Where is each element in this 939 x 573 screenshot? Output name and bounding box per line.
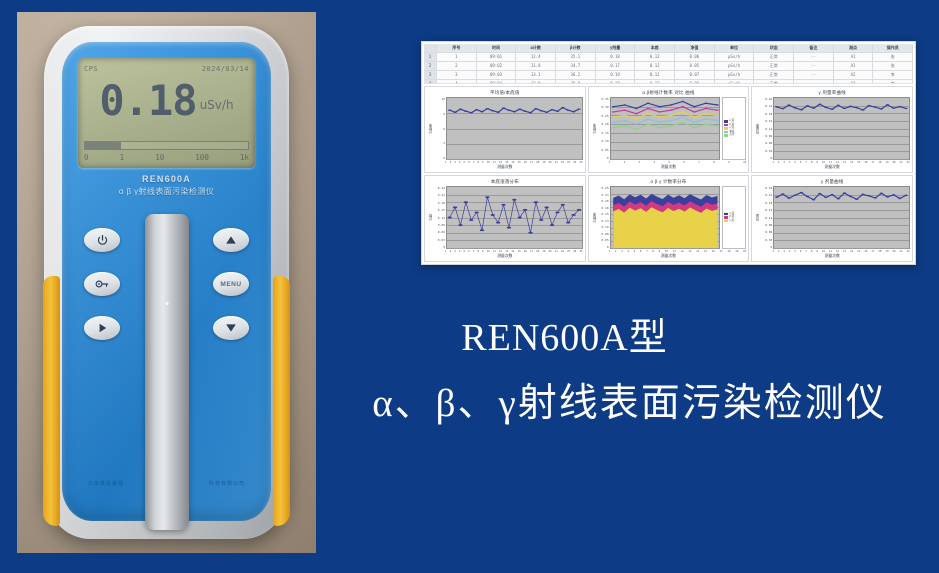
data-point: [812, 107, 815, 108]
table-cell: 正常: [754, 80, 794, 84]
data-point: [669, 120, 672, 121]
data-point: [681, 116, 684, 117]
menu-button[interactable]: MENU: [213, 272, 249, 296]
data-point: [782, 193, 785, 194]
y-tick-label: 0.18: [760, 201, 772, 205]
data-point: [681, 111, 684, 112]
y-tick-label: 0.25: [597, 186, 609, 190]
data-point: [704, 123, 707, 124]
chart-y-ticks: 0.240.210.180.150.120.090.060.030: [760, 97, 773, 160]
y-tick-label: 0.10: [597, 139, 609, 143]
lcd-status-right: 2024/03/14: [202, 65, 249, 73]
data-point: [704, 118, 707, 119]
legend-color-swatch: [724, 127, 728, 130]
lcd-scale-tick: 1k: [240, 153, 249, 165]
column-header: 序号: [437, 44, 477, 52]
data-point: [788, 104, 791, 105]
y-tick-label: 0.10: [597, 225, 609, 229]
chart-body: 剂量0.240.210.180.150.120.090.060.030: [752, 186, 912, 250]
chart-body: 计数0.240.210.180.150.120.090.060.030: [425, 186, 585, 250]
data-point: [612, 111, 615, 112]
table-cell: 0.12: [635, 62, 675, 70]
y-tick-label: 12: [433, 97, 445, 101]
chart-plot-area: [446, 97, 583, 160]
chart-grid: 平均值/本底值计数率129630123456789101112131415161…: [424, 84, 913, 262]
table-cell: --: [794, 80, 834, 84]
data-point: [831, 194, 834, 195]
gridline: [447, 248, 582, 249]
spreadsheet-row: 2209:0211.834.70.170.120.05μSv/h正常--A1张: [424, 62, 913, 71]
chart-x-axis-label: 测量次数: [425, 253, 585, 261]
device-photo: CPS 2024/03/14 0.18 uSv/h 01101001k REN6…: [17, 12, 316, 553]
chart-y-axis-label: 剂量: [753, 186, 760, 249]
column-header: 备注: [794, 44, 834, 52]
y-tick-label: 0.35: [597, 97, 609, 101]
gridline: [774, 248, 909, 249]
data-point: [775, 106, 778, 107]
row-header: 3: [424, 71, 437, 79]
line-series: [613, 112, 717, 119]
chart-plot-area: [610, 97, 721, 160]
line-series: [613, 117, 717, 124]
chart-y-ticks: 129630: [433, 97, 446, 160]
table-cell: 13.1: [516, 71, 556, 79]
chart-series-layer: [774, 187, 909, 248]
spreadsheet-header-row: 序号时间α计数β计数γ剂量本底净值单位状态备注测点操作员: [424, 44, 913, 53]
legend-color-swatch: [724, 124, 728, 127]
data-point: [704, 102, 707, 103]
data-point: [470, 112, 473, 113]
data-point: [646, 113, 649, 114]
y-tick-label: 0.15: [760, 119, 772, 123]
data-point: [646, 102, 649, 103]
data-point: [800, 192, 803, 193]
table-cell: 0.12: [635, 71, 675, 79]
y-tick-label: 0.05: [597, 238, 609, 242]
data-point: [545, 112, 548, 113]
chart-y-axis-label: 计数: [426, 186, 433, 249]
data-point: [658, 122, 661, 123]
legend-item: γ 道: [724, 220, 744, 223]
y-tick-label: 0.24: [760, 186, 772, 190]
y-tick-label: 0.03: [760, 149, 772, 153]
data-point: [577, 209, 581, 211]
data-point: [892, 194, 895, 195]
data-point: [716, 109, 719, 110]
table-cell: 1: [437, 53, 477, 61]
table-cell: 3: [437, 71, 477, 79]
data-point: [513, 111, 516, 112]
chart-x-axis-label: 测量次数: [752, 164, 912, 172]
device-handle: [145, 214, 189, 530]
chart-panel: γ 剂量曲线剂量0.240.210.180.150.120.090.060.03…: [751, 175, 913, 262]
data-point: [658, 116, 661, 117]
y-tick-label: 0.15: [433, 208, 445, 212]
data-point: [886, 196, 889, 197]
column-header: γ剂量: [596, 44, 636, 52]
y-tick-label: 0.06: [760, 230, 772, 234]
data-point: [837, 105, 840, 106]
data-point: [716, 125, 719, 126]
data-point: [635, 108, 638, 109]
line-series: [777, 193, 906, 200]
lcd-scale-tick: 10: [155, 153, 164, 165]
y-tick-label: 0.18: [597, 206, 609, 210]
data-point: [669, 125, 672, 126]
footer-right-text: 科技有限公司: [209, 480, 245, 487]
chart-title: γ 剂量率曲线: [752, 87, 912, 97]
data-point: [459, 108, 462, 109]
play-icon: [96, 322, 108, 334]
y-tick-label: 0: [433, 245, 445, 249]
line-series: [450, 197, 579, 233]
data-point: [843, 108, 846, 109]
y-tick-label: 0.21: [433, 193, 445, 197]
data-point: [491, 110, 494, 111]
row-header: 4: [424, 80, 437, 84]
table-cell: μSv/h: [715, 53, 755, 61]
chart-body: 计数率0.350.300.250.200.150.100.050α 道β 道γ …: [589, 97, 749, 161]
table-cell: 35.1: [556, 53, 596, 61]
column-header: 本底: [635, 44, 675, 52]
y-tick-label: 0.21: [760, 193, 772, 197]
data-point: [518, 108, 521, 109]
table-cell: 34.7: [556, 62, 596, 70]
y-tick-label: 0.06: [760, 141, 772, 145]
table-cell: μSv/h: [715, 71, 755, 79]
table-cell: 09:01: [477, 53, 517, 61]
chart-plot-area: [773, 97, 910, 160]
chart-legend: α 道β 道γ 道: [722, 186, 746, 249]
y-tick-label: 0.20: [597, 122, 609, 126]
lcd-display: CPS 2024/03/14 0.18 uSv/h 01101001k: [78, 58, 255, 168]
line-series: [613, 107, 717, 114]
data-point: [502, 107, 505, 108]
data-point: [529, 112, 532, 113]
data-point: [693, 111, 696, 112]
software-screenshot: 序号时间α计数β计数γ剂量本底净值单位状态备注测点操作员1109:0112.43…: [421, 41, 916, 265]
data-point: [693, 127, 696, 128]
data-point: [635, 118, 638, 119]
chart-title: γ 剂量曲线: [752, 176, 912, 186]
data-point: [704, 108, 707, 109]
legend-item: β 道: [724, 124, 744, 127]
start-button[interactable]: [84, 316, 120, 340]
y-tick-label: 0: [597, 245, 609, 249]
device-body: CPS 2024/03/14 0.18 uSv/h 01101001k REN6…: [44, 26, 289, 539]
data-point: [556, 110, 559, 111]
table-cell: 0.12: [635, 53, 675, 61]
legend-color-swatch: [724, 131, 728, 134]
chart-title: α β γ 计数率分布: [589, 176, 749, 186]
data-point: [623, 120, 626, 121]
data-point: [892, 107, 895, 108]
lcd-reading: 0.18 uSv/h: [78, 80, 255, 136]
legend-item: α 道: [724, 120, 744, 123]
power-button[interactable]: [84, 228, 120, 252]
column-header: 单位: [715, 44, 755, 52]
column-header: β计数: [556, 44, 596, 52]
table-cell: 正常: [754, 62, 794, 70]
data-point: [693, 122, 696, 123]
y-tick-label: 0.25: [597, 114, 609, 118]
data-point: [905, 195, 908, 196]
table-cell: --: [794, 71, 834, 79]
legend-item: β 道: [724, 216, 744, 219]
data-point: [825, 197, 828, 198]
legend-color-swatch: [724, 213, 728, 216]
data-point: [880, 193, 883, 194]
data-point: [448, 109, 451, 110]
chart-y-axis-label: 计数率: [426, 97, 433, 160]
data-point: [550, 109, 553, 110]
down-button[interactable]: [213, 316, 249, 340]
data-point: [453, 112, 456, 113]
column-header: 净值: [675, 44, 715, 52]
y-tick-label: 0.18: [433, 201, 445, 205]
data-point: [612, 106, 615, 107]
spreadsheet-row: 1109:0112.435.10.180.120.06μSv/h正常--A1张: [424, 53, 913, 62]
data-point: [782, 108, 785, 109]
chart-plot-area: [610, 186, 721, 249]
device-branding: REN600A α β γ射线表面污染检测仪: [62, 174, 271, 197]
table-cell: 0.05: [675, 62, 715, 70]
data-point: [899, 198, 902, 199]
data-point: [623, 115, 626, 116]
chart-x-axis-label: 测量次数: [425, 164, 585, 172]
chart-title: α β射线计数率 对比 曲线: [589, 87, 749, 97]
data-point: [899, 106, 902, 107]
data-point: [635, 129, 638, 130]
data-point: [523, 110, 526, 111]
y-tick-label: 0.30: [597, 105, 609, 109]
data-point: [635, 123, 638, 124]
table-cell: A1: [834, 62, 874, 70]
data-point: [716, 104, 719, 105]
y-tick-label: 0.24: [433, 186, 445, 190]
column-header: 测点: [834, 44, 874, 52]
data-point: [623, 109, 626, 110]
y-tick-label: 0: [760, 245, 772, 249]
data-point: [475, 109, 478, 110]
table-cell: 09:02: [477, 62, 517, 70]
data-point: [646, 123, 649, 124]
table-cell: --: [794, 62, 834, 70]
chart-series-layer: [447, 187, 582, 248]
data-point: [874, 197, 877, 198]
data-point: [464, 110, 467, 111]
gridline: [611, 159, 720, 160]
y-tick-label: 0.15: [760, 208, 772, 212]
y-tick-label: 0.18: [760, 112, 772, 116]
chart-legend: α 道β 道γ 道本底合计: [722, 97, 746, 160]
chart-x-axis-label: 测量次数: [752, 253, 912, 261]
chart-y-axis-label: 计数率: [590, 186, 597, 249]
triangle-up-icon: [225, 235, 237, 245]
data-point: [681, 101, 684, 102]
data-point: [658, 111, 661, 112]
table-cell: 2: [437, 62, 477, 70]
data-point: [868, 195, 871, 196]
y-tick-label: 3: [433, 141, 445, 145]
data-point: [669, 115, 672, 116]
data-point: [572, 111, 575, 112]
legend-color-swatch: [724, 216, 728, 219]
y-tick-label: 0.21: [760, 104, 772, 108]
table-cell: 35.8: [556, 80, 596, 84]
grip-right: [273, 276, 290, 526]
chart-y-ticks: 0.240.210.180.150.120.090.060.030: [433, 186, 446, 249]
table-cell: μSv/h: [715, 80, 755, 84]
table-cell: 0.18: [596, 80, 636, 84]
chart-body: 计数率0.250.230.200.180.150.130.100.080.050…: [589, 186, 749, 250]
lcd-scale-tick: 1: [120, 153, 125, 165]
line-series: [613, 122, 717, 129]
device-model-label: REN600A: [62, 174, 271, 184]
data-point: [540, 110, 543, 111]
data-spreadsheet: 序号时间α计数β计数γ剂量本底净值单位状态备注测点操作员1109:0112.43…: [424, 44, 913, 84]
device-description-label: α β γ射线表面污染检测仪: [62, 186, 271, 197]
table-cell: 0.19: [596, 71, 636, 79]
y-tick-label: 0.05: [597, 148, 609, 152]
table-cell: 0.07: [675, 71, 715, 79]
data-point: [658, 106, 661, 107]
lcd-scale-tick: 100: [195, 153, 209, 165]
data-point: [855, 107, 858, 108]
slide-background: CPS 2024/03/14 0.18 uSv/h 01101001k REN6…: [0, 0, 939, 573]
y-tick-label: 0: [433, 156, 445, 160]
data-point: [497, 112, 500, 113]
lcd-status-bar: CPS 2024/03/14: [84, 62, 249, 76]
table-cell: 李: [873, 71, 913, 79]
y-tick-label: 0: [597, 156, 609, 160]
power-icon: [96, 234, 109, 247]
data-point: [806, 105, 809, 106]
data-point: [534, 108, 537, 109]
y-tick-label: 0.09: [433, 223, 445, 227]
table-cell: 张: [873, 62, 913, 70]
table-cell: 11.8: [516, 62, 556, 70]
y-tick-label: 0: [760, 156, 772, 160]
row-header: 2: [424, 62, 437, 70]
gridline: [774, 159, 909, 160]
table-cell: A2: [834, 80, 874, 84]
triangle-down-icon: [225, 323, 237, 333]
chart-y-ticks: 0.240.210.180.150.120.090.060.030: [760, 186, 773, 249]
data-point: [837, 198, 840, 199]
table-cell: 0.12: [635, 80, 675, 84]
data-point: [843, 192, 846, 193]
data-point: [886, 104, 889, 105]
data-point: [577, 108, 580, 109]
backlight-button[interactable]: [84, 272, 120, 296]
chart-y-axis-label: 剂量率: [753, 97, 760, 160]
data-point: [681, 106, 684, 107]
grip-left: [43, 276, 60, 526]
table-cell: 12.4: [516, 53, 556, 61]
data-point: [855, 198, 858, 199]
y-tick-label: 0.03: [433, 238, 445, 242]
table-cell: 0.18: [596, 53, 636, 61]
table-cell: A2: [834, 71, 874, 79]
chart-body: 计数率129630: [425, 97, 585, 161]
chart-y-ticks: 0.350.300.250.200.150.100.050: [597, 97, 610, 160]
lcd-scale: 01101001k: [84, 153, 249, 165]
data-point: [775, 196, 778, 197]
table-cell: 李: [873, 80, 913, 84]
table-cell: 4: [437, 80, 477, 84]
legend-color-swatch: [724, 220, 728, 223]
data-point: [812, 199, 815, 200]
data-point: [612, 116, 615, 117]
y-tick-label: 0.15: [597, 131, 609, 135]
chart-x-axis-label: 测量次数: [589, 164, 749, 172]
chart-y-axis-label: 计数率: [590, 97, 597, 160]
table-cell: A1: [834, 53, 874, 61]
data-point: [646, 118, 649, 119]
chart-panel: 本底涨落分布计数0.240.210.180.150.120.090.060.03…: [424, 175, 586, 262]
data-point: [806, 196, 809, 197]
y-tick-label: 0.03: [760, 238, 772, 242]
magnifier-icon: [95, 278, 110, 290]
column-header: 操作员: [873, 44, 913, 52]
lcd-value: 0.18: [99, 80, 196, 122]
gridline: [447, 159, 582, 160]
y-tick-label: 0.12: [760, 127, 772, 131]
legend-label: 合计: [729, 134, 734, 137]
data-point: [669, 109, 672, 110]
data-point: [794, 107, 797, 108]
spreadsheet-row: 4409:0412.935.80.180.120.06μSv/h正常--A2李: [424, 80, 913, 84]
column-header: α计数: [516, 44, 556, 52]
data-point: [693, 116, 696, 117]
y-tick-label: 0.08: [597, 232, 609, 236]
data-point: [825, 107, 828, 108]
menu-button-label: MENU: [220, 281, 241, 288]
data-point: [849, 106, 852, 107]
area-series: [613, 207, 717, 248]
y-tick-label: 0.24: [760, 97, 772, 101]
y-tick-label: 0.09: [760, 134, 772, 138]
row-header: 1: [424, 53, 437, 61]
chart-panel: γ 剂量率曲线剂量率0.240.210.180.150.120.090.060.…: [751, 86, 913, 173]
table-cell: 36.2: [556, 71, 596, 79]
data-point: [794, 194, 797, 195]
data-point: [635, 113, 638, 114]
column-header: 状态: [754, 44, 794, 52]
chart-title: 平均值/本底值: [425, 87, 585, 97]
up-button[interactable]: [213, 228, 249, 252]
table-cell: --: [794, 53, 834, 61]
chart-x-axis-label: 测量次数: [589, 253, 749, 261]
table-cell: 0.06: [675, 53, 715, 61]
data-point: [868, 105, 871, 106]
lcd-unit: uSv/h: [200, 98, 234, 112]
line-series: [613, 101, 717, 108]
table-cell: 张: [873, 53, 913, 61]
chart-title: 本底涨落分布: [425, 176, 585, 186]
data-point: [831, 108, 834, 109]
spreadsheet-row: 3309:0313.136.20.190.120.07μSv/h正常--A2李: [424, 71, 913, 80]
y-tick-label: 0.15: [597, 212, 609, 216]
data-point: [704, 113, 707, 114]
data-point: [658, 127, 661, 128]
column-header: 时间: [477, 44, 517, 52]
chart-plot-area: [773, 186, 910, 249]
data-point: [862, 194, 865, 195]
data-point: [567, 109, 570, 110]
data-point: [849, 196, 852, 197]
